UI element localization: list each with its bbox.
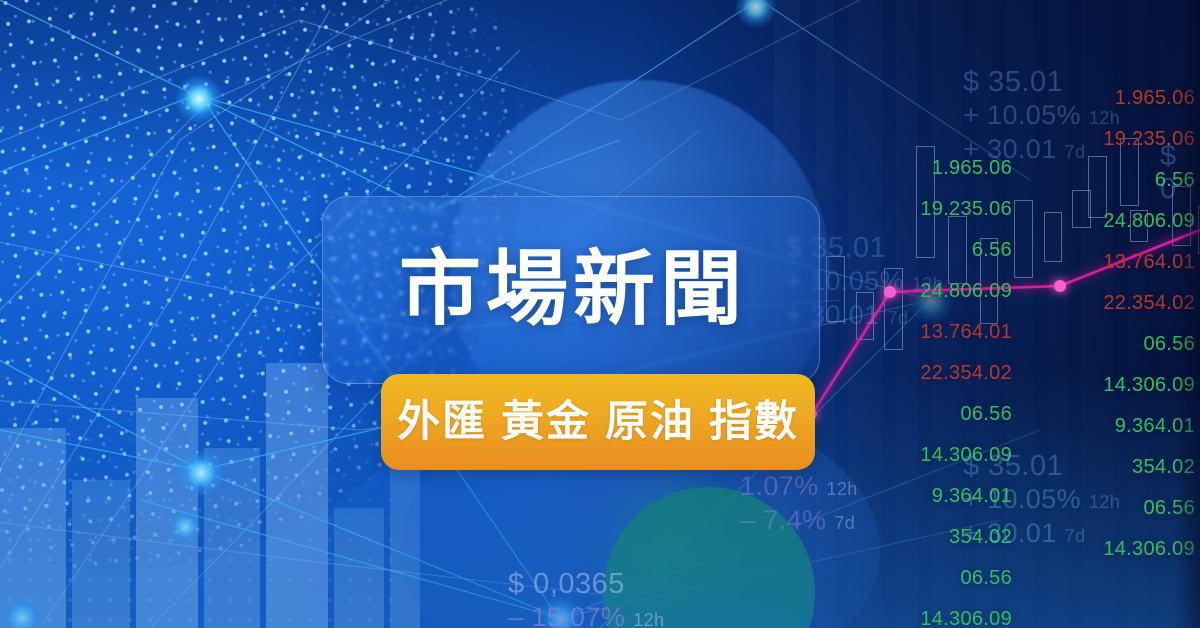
quote-bottom-right-partial: 1.07% 12h – 7.4% 7d bbox=[740, 470, 858, 538]
quote-top-right: $ 35.01 + 10.05% 12h + 30.01 7d bbox=[963, 66, 1120, 167]
ticker-value: 22.354.02 bbox=[1040, 283, 1195, 324]
quote-change-12h: 1.07% 12h bbox=[740, 470, 858, 504]
quote-change-12h: + 10.05% 12h bbox=[963, 99, 1120, 133]
ticker-value: 24.806.09 bbox=[852, 271, 1012, 312]
category-tag-pill[interactable]: 外匯 黃金 原油 指數 bbox=[381, 374, 815, 470]
quote-price: $ 35.01 bbox=[963, 66, 1120, 99]
quote-change-7d: + 30.01 7d bbox=[963, 133, 1120, 167]
quote-change-7d: – 7.4% 7d bbox=[740, 504, 858, 538]
ticker-value: 14.306.09 bbox=[1040, 365, 1195, 406]
network-node-glow bbox=[175, 75, 223, 123]
network-node-glow bbox=[538, 596, 584, 628]
category-tag-label: 外匯 黃金 原油 指數 bbox=[397, 401, 799, 444]
ticker-value: 06.56 bbox=[852, 558, 1012, 599]
quote-far-right-cut: $ 0 bbox=[1160, 140, 1200, 207]
quote-price: $ 0,0365 bbox=[508, 568, 664, 601]
ticker-value: 354.02 bbox=[1040, 447, 1195, 488]
ticker-value: 354.02 bbox=[852, 517, 1012, 558]
ticker-value: 1.965.06 bbox=[1040, 78, 1195, 119]
ticker-value: 06.56 bbox=[1040, 324, 1195, 365]
ticker-value: 24.806.09 bbox=[1040, 201, 1195, 242]
quote-change-12h: + 10.05% 12h bbox=[963, 483, 1120, 517]
ticker-value: 19.235.06 bbox=[852, 189, 1012, 230]
decorative-green-circle bbox=[603, 487, 815, 628]
right-edge-fade bbox=[1174, 0, 1200, 628]
quote-price: $ 35.01 bbox=[963, 450, 1120, 483]
left-ticker-column: 1.965.0619.235.066.5624.806.0913.764.012… bbox=[852, 148, 1012, 628]
network-node-glow bbox=[178, 450, 224, 496]
ticker-value: 19.235.06 bbox=[1040, 119, 1195, 160]
ticker-value: 13.764.01 bbox=[852, 312, 1012, 353]
right-ticker-column: 1.965.0619.235.066.5624.806.0913.764.012… bbox=[1040, 78, 1195, 570]
network-node-glow bbox=[0, 596, 44, 628]
ticker-value: 14.306.09 bbox=[852, 435, 1012, 476]
ticker-value: 9.364.01 bbox=[1040, 406, 1195, 447]
market-news-banner: 1.965.0619.235.066.5624.806.0913.764.012… bbox=[0, 0, 1200, 628]
ticker-value: 13.764.01 bbox=[1040, 242, 1195, 283]
page-title: 市場新聞 bbox=[395, 249, 747, 331]
ticker-value: 14.306.09 bbox=[852, 599, 1012, 628]
ticker-value: 6.56 bbox=[1040, 160, 1195, 201]
decorative-green-glow bbox=[575, 470, 765, 628]
trend-line-chart bbox=[760, 200, 1200, 500]
quote-bottom-right: $ 35.01 + 10.05% 12h + 30.01 7d bbox=[963, 450, 1120, 551]
candlestick-chart bbox=[820, 150, 1200, 480]
quote-bottom-center: $ 0,0365 – 15.07% 12h – 43.4% 7d bbox=[508, 568, 664, 628]
ticker-value: 1.965.06 bbox=[852, 148, 1012, 189]
ticker-value: 9.364.01 bbox=[852, 476, 1012, 517]
quote-price: $ 0 bbox=[1160, 140, 1200, 207]
background-column-strips bbox=[770, 0, 1200, 628]
quote-change-12h: – 15.07% 12h bbox=[508, 601, 664, 628]
quote-change-7d: + 30.01 7d bbox=[963, 517, 1120, 551]
network-node-glow bbox=[168, 510, 202, 544]
ticker-value: 06.56 bbox=[852, 394, 1012, 435]
ticker-value: 6.56 bbox=[852, 230, 1012, 271]
ticker-value: 14.306.09 bbox=[1040, 529, 1195, 570]
title-card: 市場新聞 bbox=[322, 196, 820, 384]
network-node-glow bbox=[908, 278, 954, 324]
ticker-value: 22.354.02 bbox=[852, 353, 1012, 394]
ticker-value: 06.56 bbox=[1040, 488, 1195, 529]
network-node-glow bbox=[735, 0, 777, 28]
